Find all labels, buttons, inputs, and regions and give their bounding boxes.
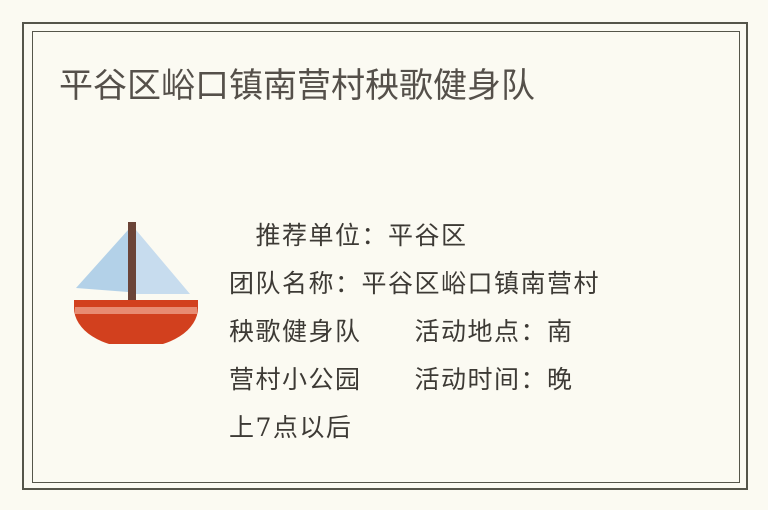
sailboat-hull-stripe [75,307,197,314]
sailboat-left-sail [76,230,128,292]
sailboat-right-sail [136,230,190,294]
details-block: 推荐单位：平谷区 团队名称：平谷区峪口镇南营村 秧歌健身队 活动地点：南 营村小… [229,212,659,452]
sailboat-mast [128,222,136,300]
details-line-2: 团队名称：平谷区峪口镇南营村 [229,260,659,308]
sailboat-icon [68,208,204,344]
details-line-5: 上7点以后 [229,404,659,452]
page-title: 平谷区峪口镇南营村秧歌健身队 [59,64,535,108]
poster-card: 平谷区峪口镇南营村秧歌健身队 推荐单位：平谷区 团队名称：平谷区峪口镇南营村 秧… [0,0,768,510]
details-line-1: 推荐单位：平谷区 [229,212,659,260]
details-line-4: 营村小公园 活动时间：晚 [229,356,659,404]
details-line-3: 秧歌健身队 活动地点：南 [229,308,659,356]
sailboat-hull [74,300,198,344]
